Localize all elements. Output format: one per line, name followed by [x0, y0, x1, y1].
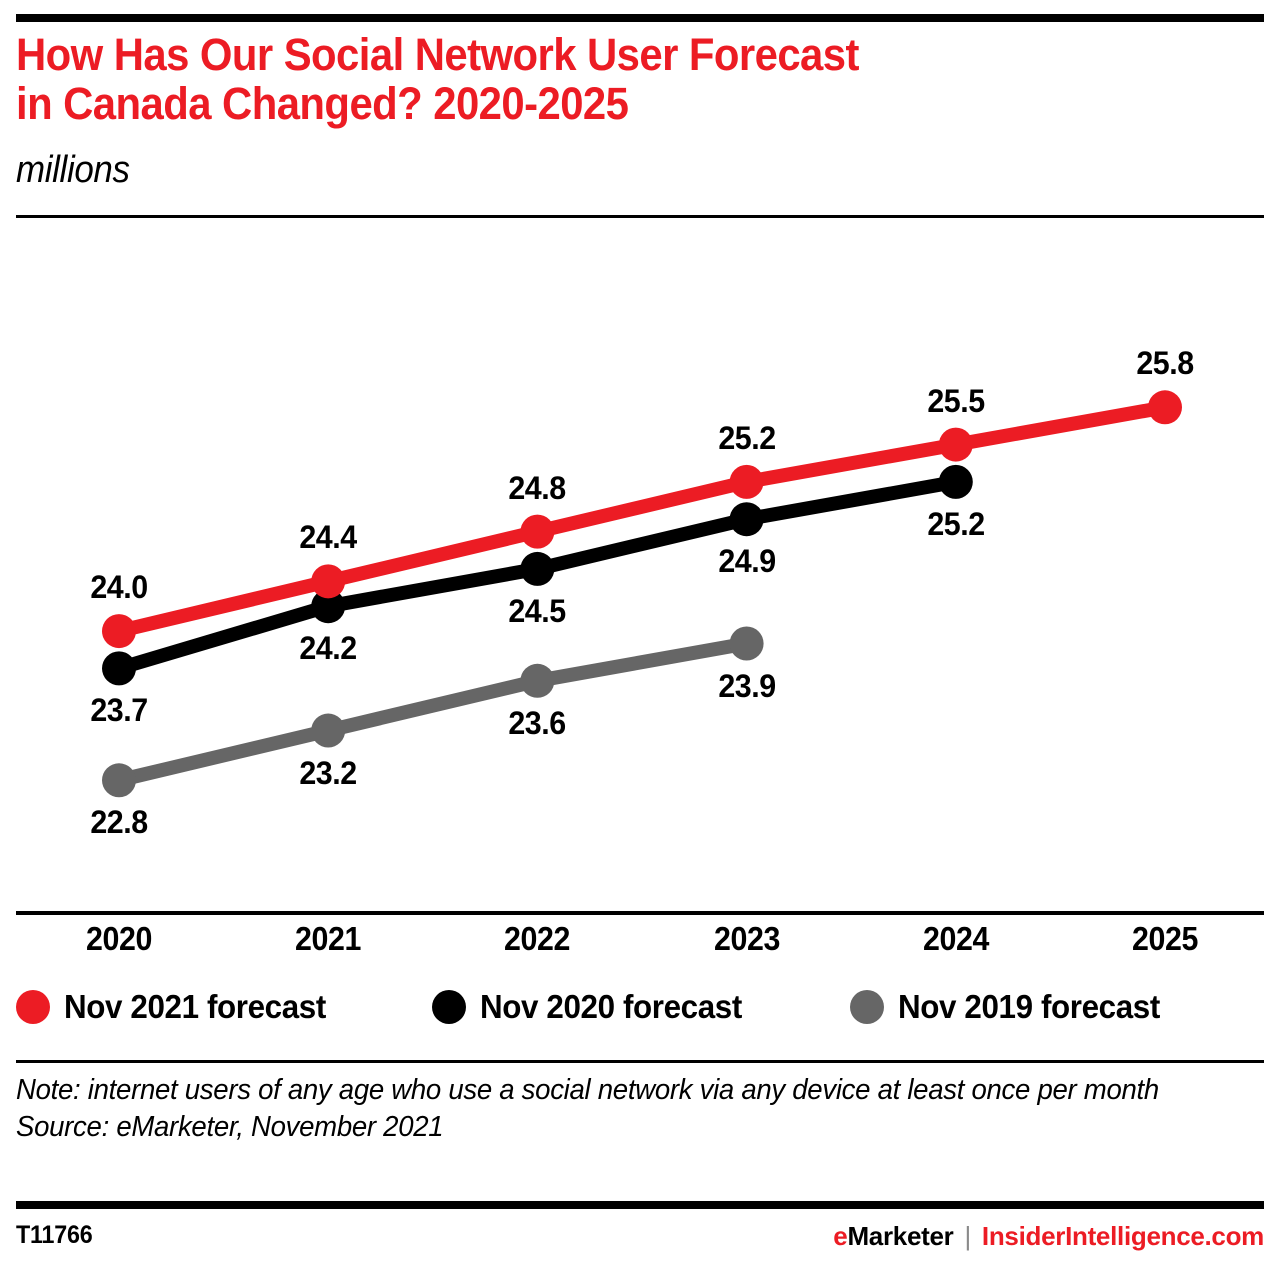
data-point-marker[interactable]	[520, 552, 554, 586]
line-chart-svg	[0, 230, 1280, 915]
series-line	[119, 644, 747, 781]
legend-item-2[interactable]: Nov 2020 forecast	[432, 984, 756, 1030]
brand-marketer-text: Marketer	[847, 1221, 953, 1252]
data-value-label: 24.8	[509, 470, 566, 507]
data-point-marker[interactable]	[939, 465, 973, 499]
x-axis-tick-2022: 2022	[504, 920, 570, 958]
note-text: Note: internet users of any age who use …	[16, 1072, 1202, 1109]
data-value-label: 25.8	[1136, 345, 1193, 382]
data-value-label: 24.5	[509, 593, 566, 630]
data-value-label: 24.4	[300, 519, 357, 556]
x-axis-tick-2024: 2024	[923, 920, 989, 958]
data-point-marker[interactable]	[1148, 390, 1182, 424]
data-point-marker[interactable]	[939, 428, 973, 462]
chart-subtitle: millions	[16, 148, 130, 192]
data-value-label: 24.2	[300, 630, 357, 667]
legend-swatch-icon	[432, 990, 466, 1024]
data-value-label: 25.2	[718, 420, 775, 457]
data-value-label: 25.5	[927, 383, 984, 420]
brand-lockup[interactable]: eMarketer | InsiderIntelligence.com	[833, 1221, 1264, 1252]
legend-label: Nov 2021 forecast	[64, 988, 326, 1026]
legend-swatch-icon	[850, 990, 884, 1024]
data-value-label: 22.8	[90, 804, 147, 841]
chart-notes: Note: internet users of any age who use …	[16, 1072, 1264, 1146]
data-value-label: 23.2	[300, 755, 357, 792]
x-axis-tick-2020: 2020	[86, 920, 152, 958]
data-point-marker[interactable]	[102, 614, 136, 648]
data-point-marker[interactable]	[520, 664, 554, 698]
data-point-marker[interactable]	[102, 763, 136, 797]
page-title: How Has Our Social Network User Forecast…	[16, 30, 1076, 128]
data-point-marker[interactable]	[520, 515, 554, 549]
data-value-label: 23.6	[509, 705, 566, 742]
brand-website-link[interactable]: InsiderIntelligence.com	[982, 1221, 1264, 1252]
footer-rule	[16, 1201, 1264, 1209]
data-point-marker[interactable]	[311, 564, 345, 598]
chart-plot-area: 24.024.424.825.225.525.823.724.224.524.9…	[0, 230, 1280, 915]
data-point-marker[interactable]	[730, 627, 764, 661]
data-point-marker[interactable]	[730, 502, 764, 536]
data-point-marker[interactable]	[730, 465, 764, 499]
chart-page: How Has Our Social Network User Forecast…	[0, 0, 1280, 1276]
x-axis-tick-2025: 2025	[1132, 920, 1198, 958]
chart-id: T11766	[16, 1221, 92, 1250]
series-line	[119, 407, 1165, 631]
data-value-label: 24.0	[90, 569, 147, 606]
legend-item-3[interactable]: Nov 2019 forecast	[850, 984, 1174, 1030]
top-rule	[16, 14, 1264, 22]
brand-e-letter: e	[833, 1221, 847, 1252]
data-value-label: 25.2	[927, 506, 984, 543]
note-divider	[16, 1060, 1264, 1063]
x-axis-tick-2021: 2021	[295, 920, 361, 958]
data-value-label: 23.7	[90, 692, 147, 729]
data-value-label: 24.9	[718, 543, 775, 580]
x-axis-tick-2023: 2023	[714, 920, 780, 958]
legend-item-1[interactable]: Nov 2021 forecast	[16, 984, 340, 1030]
legend-label: Nov 2019 forecast	[898, 988, 1160, 1026]
legend-swatch-icon	[16, 990, 50, 1024]
subtitle-divider	[16, 215, 1264, 218]
legend-label: Nov 2020 forecast	[480, 988, 742, 1026]
data-point-marker[interactable]	[311, 714, 345, 748]
source-text: Source: eMarketer, November 2021	[16, 1109, 1202, 1146]
x-axis-line	[16, 911, 1264, 915]
data-value-label: 23.9	[718, 668, 775, 705]
data-point-marker[interactable]	[102, 651, 136, 685]
brand-separator: |	[964, 1221, 970, 1252]
